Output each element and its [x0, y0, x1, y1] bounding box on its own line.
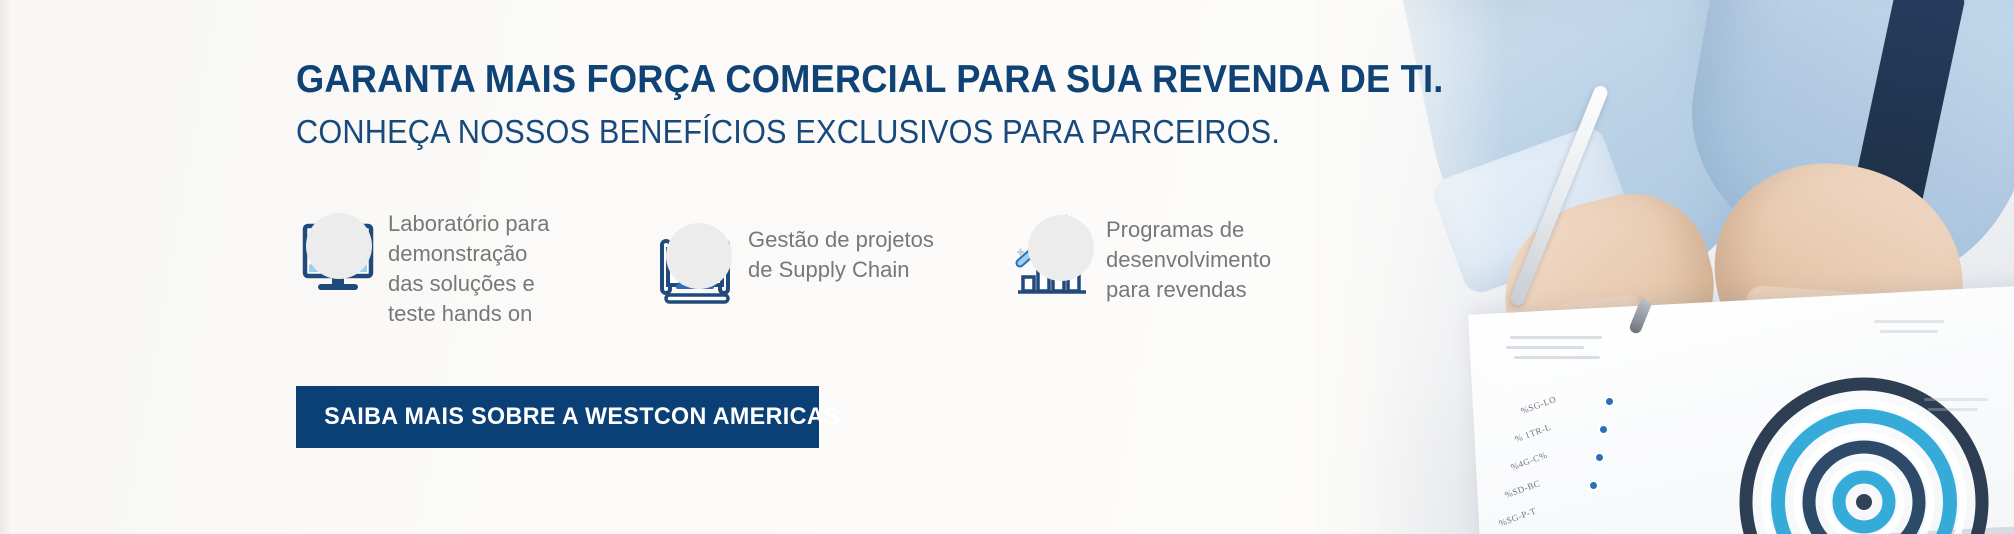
feature-label-supply-chain: Gestão de projetos de Supply Chain	[748, 221, 934, 285]
feature-label-lab: Laboratório para demonstração das soluçõ…	[388, 205, 549, 329]
radial-ring-chart-graphic	[1739, 352, 1989, 534]
feature-label-development: Programas de desenvolvimento para revend…	[1106, 211, 1271, 305]
promo-banner: %SG-LO % 1TR-L %4G-C% %SD-BC %SG-P-T	[0, 0, 2014, 534]
feature-item-lab: Laboratório para demonstração das soluçõ…	[296, 205, 626, 329]
paper-text-line	[1880, 330, 1938, 333]
banner-subheadline: CONHEÇA NOSSOS BENEFÍCIOS EXCLUSIVOS PAR…	[296, 113, 1280, 151]
paper-text-line	[1514, 356, 1600, 359]
cta-button[interactable]: SAIBA MAIS SOBRE A WESTCON AMERICAS	[296, 386, 819, 448]
banner-content: GARANTA MAIS FORÇA COMERCIAL PARA SUA RE…	[0, 0, 1430, 534]
paper-text-line	[1928, 408, 1978, 411]
chart-node-dot	[1596, 454, 1603, 461]
paper-text-line	[1924, 398, 1988, 401]
feature-item-supply-chain: Gestão de projetos de Supply Chain	[656, 205, 956, 333]
chart-node-dot	[1606, 398, 1613, 405]
growth-chart-icon	[1014, 211, 1098, 323]
cta-button-label: SAIBA MAIS SOBRE A WESTCON AMERICAS	[296, 403, 840, 431]
icon-background-circle	[1028, 215, 1094, 281]
blueprint-ruler-icon	[656, 221, 740, 333]
feature-item-development: Programas de desenvolvimento para revend…	[1014, 205, 1354, 323]
chart-node-dot	[1600, 426, 1607, 433]
lab-monitor-icon	[296, 205, 380, 317]
paper-text-line	[1510, 336, 1602, 339]
paper-text-line	[1874, 320, 1944, 323]
feature-list: Laboratório para demonstração das soluçõ…	[296, 205, 1386, 335]
icon-background-circle	[666, 223, 732, 289]
paper-text-line	[1506, 346, 1584, 349]
icon-background-circle	[306, 213, 372, 279]
banner-headline: GARANTA MAIS FORÇA COMERCIAL PARA SUA RE…	[296, 58, 1443, 102]
chart-node-dot	[1590, 482, 1597, 489]
